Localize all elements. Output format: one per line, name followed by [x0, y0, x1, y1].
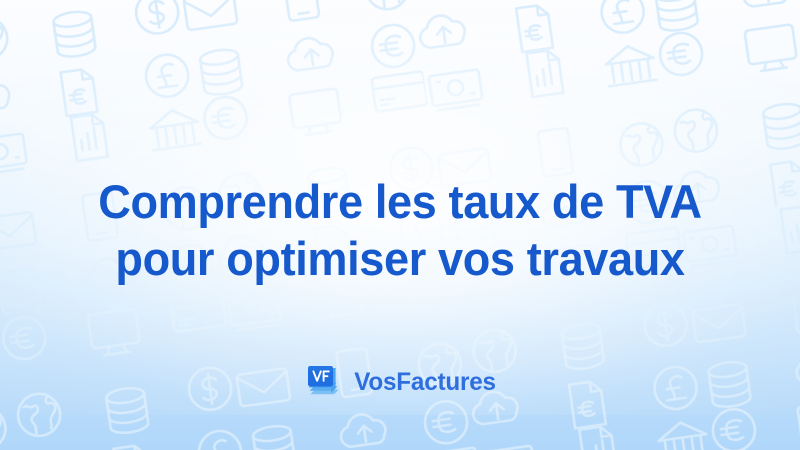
page-title-line-2: pour optimiser vos travaux — [16, 230, 784, 287]
brand-logo[interactable]: VosFactures — [0, 362, 800, 402]
banner-content: Comprendre les taux de TVA pour optimise… — [0, 0, 800, 450]
brand-wordmark: VosFactures — [355, 370, 497, 395]
page-title-line-1: Comprendre les taux de TVA — [16, 173, 784, 230]
vosfactures-stacked-documents-icon — [301, 362, 343, 402]
banner-canvas: Comprendre les taux de TVA pour optimise… — [0, 0, 800, 450]
page-title: Comprendre les taux de TVA pour optimise… — [16, 173, 784, 287]
